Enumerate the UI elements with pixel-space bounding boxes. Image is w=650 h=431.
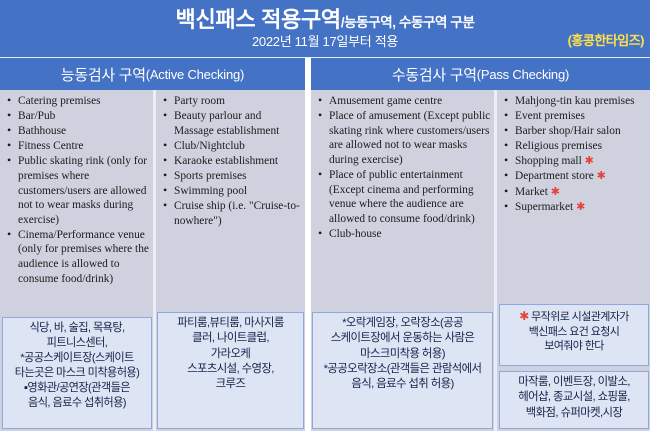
list-item-label: Mahjong-tin kau premises [515, 95, 635, 107]
list-item: Cinema/Performance venue (only for premi… [4, 228, 151, 286]
section-header-pass-en: (Pass Checking) [477, 67, 569, 82]
infographic-sheet: 백신패스 적용구역/능동구역, 수동구역 구분 2022년 11월 17일부터 … [0, 0, 650, 431]
asterisk-icon: ✱ [576, 200, 585, 213]
note-line: *오락게임장, 오락장소(공공 [315, 316, 490, 331]
note-box-pass-2: 마작룸, 이벤트장, 이발소, 헤어샵, 종교시설, 쇼핑몰, 백화점, 슈퍼마… [499, 371, 649, 429]
list-item: Catering premises [4, 94, 151, 109]
note-line: 음식, 음료수 섭취허용) [5, 396, 149, 411]
list-item: Club-house [315, 227, 492, 242]
asterisk-icon: ✱ [551, 185, 560, 198]
list-item: Supermarket ✱ [501, 200, 648, 215]
list-item: Event premises [501, 109, 648, 124]
list-item: Swimming pool [160, 184, 303, 199]
list-item: Party room [160, 94, 303, 109]
list-item: Club/Nightclub [160, 139, 303, 154]
note-line: 스포츠시설, 수영장, [160, 362, 301, 377]
list-item: Fitness Centre [4, 139, 151, 154]
note-line: 크루즈 [160, 377, 301, 392]
list-item: Sports premises [160, 169, 303, 184]
list-active-1: Catering premises Bar/Pub Bathhouse Fitn… [4, 94, 151, 286]
list-pass-1: Amusement game centre Place of amusement… [315, 94, 492, 241]
note-line: 마작룸, 이벤트장, 이발소, [502, 375, 646, 390]
title-line: 백신패스 적용구역/능동구역, 수동구역 구분 [0, 2, 650, 34]
list-item: Religious premises [501, 139, 648, 154]
page-title: 백신패스 적용구역 [176, 7, 341, 32]
list-item-label: Event premises [515, 110, 585, 122]
note-line: 헤어샵, 종교시설, 쇼핑몰, [502, 390, 646, 405]
effective-date-line: 2022년 11월 17일부터 적용 [0, 31, 650, 51]
section-header-active-en: (Active Checking) [146, 67, 244, 82]
note-line: 음식, 음료수 섭취 허용) [315, 377, 490, 392]
note-box-active-1: 식당, 바, 술집, 목욕탕, 피트니스센터, *공공스케이트장(스케이트 타는… [2, 317, 152, 429]
section-header-bar: 능동검사 구역(Active Checking) 수동검사 구역(Pass Ch… [0, 57, 650, 90]
note-line: 피트니스센터, [5, 336, 149, 351]
asterisk-icon: ✱ [519, 309, 528, 323]
list-item: Mahjong-tin kau premises [501, 94, 648, 109]
note-line: 백화점, 슈퍼마켓,시장 [502, 406, 646, 421]
note-line: 가라오케 [160, 347, 301, 362]
source-credit: (홍콩한타임즈) [568, 30, 644, 49]
note-line: *공공스케이트장(스케이트 [5, 351, 149, 366]
list-item-label: Religious premises [515, 140, 602, 152]
list-item-label: Supermarket [515, 201, 573, 213]
note-line-with-asterisk: ✱ 무작위로 시설관계자가 [502, 308, 646, 325]
list-item: Market ✱ [501, 185, 648, 200]
note-line: 파티룸,뷰티룸, 마사지룸 [160, 316, 301, 331]
note-line: 마스크미착용 허용) [315, 347, 490, 362]
page-subtitle: /능동구역, 수동구역 구분 [341, 15, 475, 30]
list-item: Bathhouse [4, 124, 151, 139]
list-item-label: Barber shop/Hair salon [515, 125, 621, 137]
note-box-pass-1: *오락게임장, 오락장소(공공 스케이트장에서 운동하는 사람은 마스크미착용 … [312, 312, 493, 429]
asterisk-icon: ✱ [597, 169, 606, 182]
list-active-2: Party room Beauty parlour and Massage es… [160, 94, 303, 228]
note-line: 보여줘야 한다 [502, 339, 646, 354]
note-line: 백신패스 요건 요청시 [502, 325, 646, 340]
list-item-label: Shopping mall [515, 155, 582, 167]
list-item: Place of amusement (Except public skatin… [315, 109, 492, 167]
header-banner: 백신패스 적용구역/능동구역, 수동구역 구분 2022년 11월 17일부터 … [0, 0, 650, 57]
list-item: Bar/Pub [4, 109, 151, 124]
note-line: 무작위로 시설관계자가 [531, 311, 629, 323]
list-item-label: Department store [515, 170, 594, 182]
list-item-label: Market [515, 186, 548, 198]
list-item: Beauty parlour and Massage establishment [160, 109, 303, 138]
list-item: Public skating rink (only for premises w… [4, 154, 151, 227]
note-line: ▪영화관/공연장(관객들은 [5, 381, 149, 396]
list-item: Department store ✱ [501, 169, 648, 184]
list-item: Place of public entertainment (Except ci… [315, 168, 492, 226]
list-item: Shopping mall ✱ [501, 154, 648, 169]
list-item: Cruise ship (i.e. "Cruise-to-nowhere") [160, 199, 303, 228]
effective-date: 2022년 11월 17일부터 적용 [252, 34, 398, 49]
section-header-active: 능동검사 구역(Active Checking) [0, 58, 305, 91]
note-line: *공공오락장소(관객들은 관람석에서 [315, 362, 490, 377]
list-pass-2: Mahjong-tin kau premises Event premises … [501, 94, 648, 214]
content-body: Catering premises Bar/Pub Bathhouse Fitn… [0, 90, 650, 431]
note-box-asterisk-legend: ✱ 무작위로 시설관계자가 백신패스 요건 요청시 보여줘야 한다 [499, 304, 649, 366]
list-item: Amusement game centre [315, 94, 492, 109]
note-line: 식당, 바, 술집, 목욕탕, [5, 321, 149, 336]
asterisk-icon: ✱ [585, 154, 594, 167]
list-item: Karaoke establishment [160, 154, 303, 169]
list-item: Barber shop/Hair salon [501, 124, 648, 139]
section-header-active-ko: 능동검사 구역 [61, 64, 146, 85]
section-header-pass: 수동검사 구역(Pass Checking) [311, 58, 650, 91]
section-header-pass-ko: 수동검사 구역 [392, 64, 477, 85]
note-box-active-2: 파티룸,뷰티룸, 마사지룸 클러, 나이트클럽, 가라오케 스포츠시설, 수영장… [157, 312, 304, 429]
note-line: 타는곳은 마스크 미착용허용) [5, 366, 149, 381]
note-line: 클러, 나이트클럽, [160, 331, 301, 346]
note-line: 스케이트장에서 운동하는 사람은 [315, 331, 490, 346]
